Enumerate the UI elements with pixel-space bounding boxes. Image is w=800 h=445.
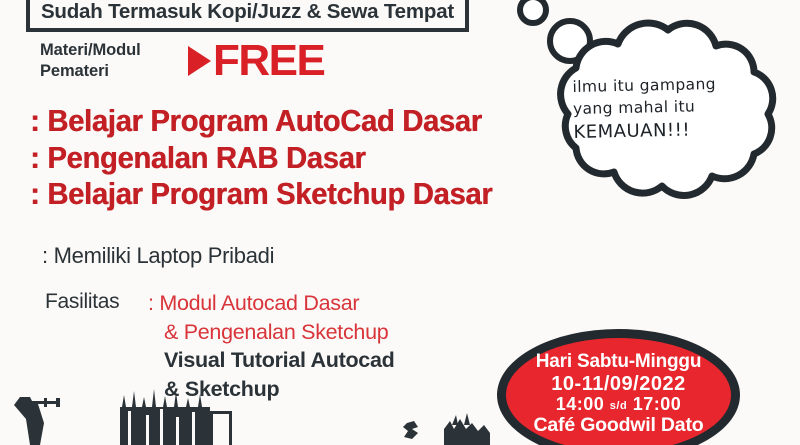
construction-silhouette-icon — [0, 385, 800, 445]
play-triangle-icon — [188, 46, 211, 76]
list-item: & Pengenalan Sketchup — [148, 318, 388, 347]
list-item: : Belajar Program AutoCad Dasar — [30, 103, 492, 140]
free-block: FREE — [188, 38, 324, 84]
bubble-line-3: KEMAUAN!!! — [573, 116, 763, 146]
list-item: : Modul Autocad Dasar — [148, 289, 394, 318]
topic-list: : Belajar Program AutoCad Dasar : Pengen… — [30, 103, 492, 213]
free-label: FREE — [213, 39, 324, 83]
poster-canvas: Sudah Termasuk Kopi/Juzz & Sewa Tempat M… — [0, 0, 800, 445]
fasilitas-label: Fasilitas — [45, 290, 119, 314]
materi-line-2: Pemateri — [40, 61, 141, 82]
bottom-silhouettes — [0, 385, 800, 445]
included-text: Sudah Termasuk Kopi/Juzz & Sewa Tempat — [30, 0, 465, 24]
list-item: Visual Tutorial Autocad — [148, 346, 394, 375]
list-item: : Pengenalan RAB Dasar — [30, 140, 492, 177]
list-item: : Belajar Program Sketchup Dasar — [30, 176, 492, 213]
included-box: Sudah Termasuk Kopi/Juzz & Sewa Tempat — [26, 0, 469, 32]
materi-line-1: Materi/Modul — [40, 40, 141, 61]
requirement-text: : Memiliki Laptop Pribadi — [42, 243, 274, 269]
thought-bubble: ilmu itu gampang yang mahal itu KEMAUAN!… — [498, 0, 798, 216]
event-day: Hari Sabtu-Minggu — [506, 352, 731, 373]
materi-label-block: Materi/Modul Pemateri — [40, 40, 141, 82]
thought-bubble-text: ilmu itu gampang yang mahal itu KEMAUAN!… — [572, 72, 763, 146]
